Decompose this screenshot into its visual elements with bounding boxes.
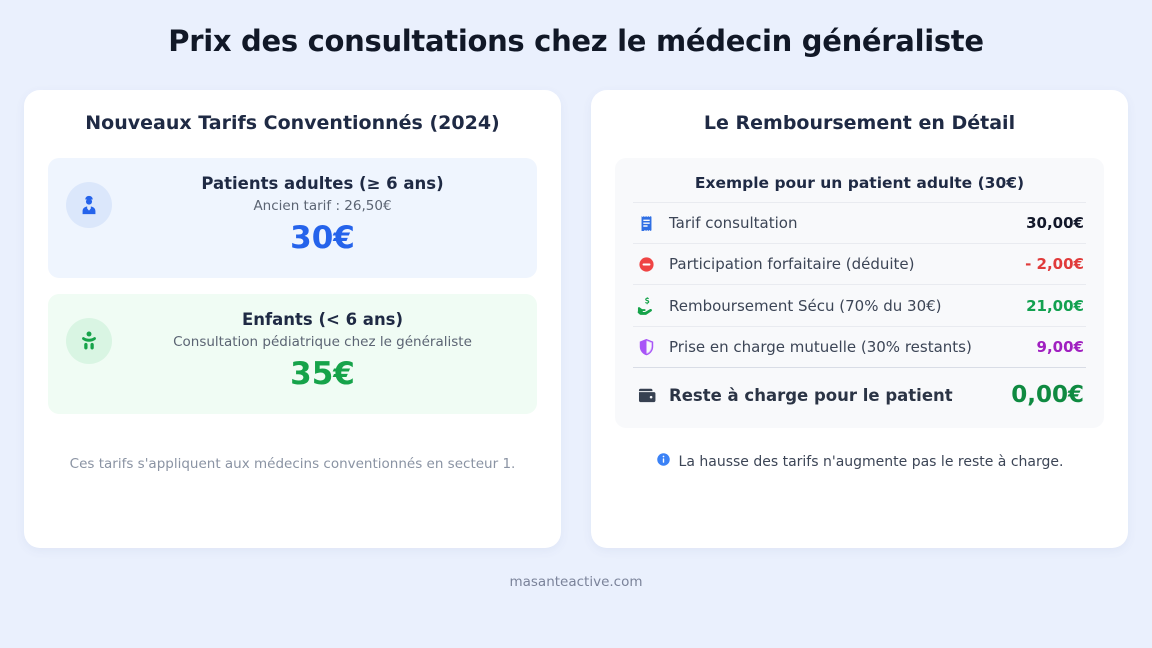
page-title: Prix des consultations chez le médecin g… [0,0,1152,58]
circle-minus-icon [635,256,657,273]
detail-row-mutuelle-value: 9,00€ [1037,338,1084,356]
detail-row-total: Reste à charge pour le patient 0,00€ [633,367,1086,414]
shield-icon [635,338,657,356]
tariff-child-subtext: Consultation pédiatrique chez le général… [126,334,519,350]
tariff-adult-price: 30€ [126,218,519,260]
wallet-icon [635,386,657,405]
cards-container: Nouveaux Tarifs Conventionnés (2024) Pat… [0,58,1152,548]
detail-row-total-label: Reste à charge pour le patient [669,386,1011,405]
tarifs-card-title: Nouveaux Tarifs Conventionnés (2024) [48,112,537,134]
baby-icon [66,318,112,364]
detail-row-participation-value: - 2,00€ [1025,255,1084,273]
detail-row-participation: Participation forfaitaire (déduite) - 2,… [633,243,1086,284]
receipt-icon [635,215,657,232]
detail-row-tarif-label: Tarif consultation [669,214,1026,232]
detail-row-secu-value: 21,00€ [1026,297,1084,315]
detail-row-secu-label: Remboursement Sécu (70% du 30€) [669,297,1026,315]
tariff-adult-body: Patients adultes (≥ 6 ans) Ancien tarif … [126,174,519,260]
remboursement-card-title: Le Remboursement en Détail [615,112,1104,134]
detail-row-tarif: Tarif consultation 30,00€ [633,202,1086,243]
detail-row-mutuelle: Prise en charge mutuelle (30% restants) … [633,326,1086,367]
detail-row-tarif-value: 30,00€ [1026,214,1084,232]
tariff-child-heading: Enfants (< 6 ans) [126,310,519,329]
remboursement-note: La hausse des tarifs n'augmente pas le r… [615,452,1104,471]
detail-panel-title: Exemple pour un patient adulte (30€) [633,174,1086,192]
tariff-child: Enfants (< 6 ans) Consultation pédiatriq… [48,294,537,414]
tariff-child-price: 35€ [126,354,519,396]
doctor-icon [66,182,112,228]
tariff-adult-subtext: Ancien tarif : 26,50€ [126,198,519,214]
remboursement-note-text: La hausse des tarifs n'augmente pas le r… [679,454,1064,470]
remboursement-card: Le Remboursement en Détail Exemple pour … [591,90,1128,548]
tarifs-card: Nouveaux Tarifs Conventionnés (2024) Pat… [24,90,561,548]
tarifs-note: Ces tarifs s'appliquent aux médecins con… [48,456,537,472]
detail-row-mutuelle-label: Prise en charge mutuelle (30% restants) [669,338,1037,356]
tariff-adult: Patients adultes (≥ 6 ans) Ancien tarif … [48,158,537,278]
detail-row-participation-label: Participation forfaitaire (déduite) [669,255,1025,273]
detail-row-total-value: 0,00€ [1011,382,1084,408]
detail-panel: Exemple pour un patient adulte (30€) Tar… [615,158,1104,428]
detail-row-secu: Remboursement Sécu (70% du 30€) 21,00€ [633,284,1086,326]
info-circle-icon [656,452,671,471]
tariff-adult-heading: Patients adultes (≥ 6 ans) [126,174,519,193]
tariff-child-body: Enfants (< 6 ans) Consultation pédiatriq… [126,310,519,396]
footer-source: masanteactive.com [0,574,1152,590]
page-root: Prix des consultations chez le médecin g… [0,0,1152,648]
hand-holding-money-icon [635,296,657,315]
